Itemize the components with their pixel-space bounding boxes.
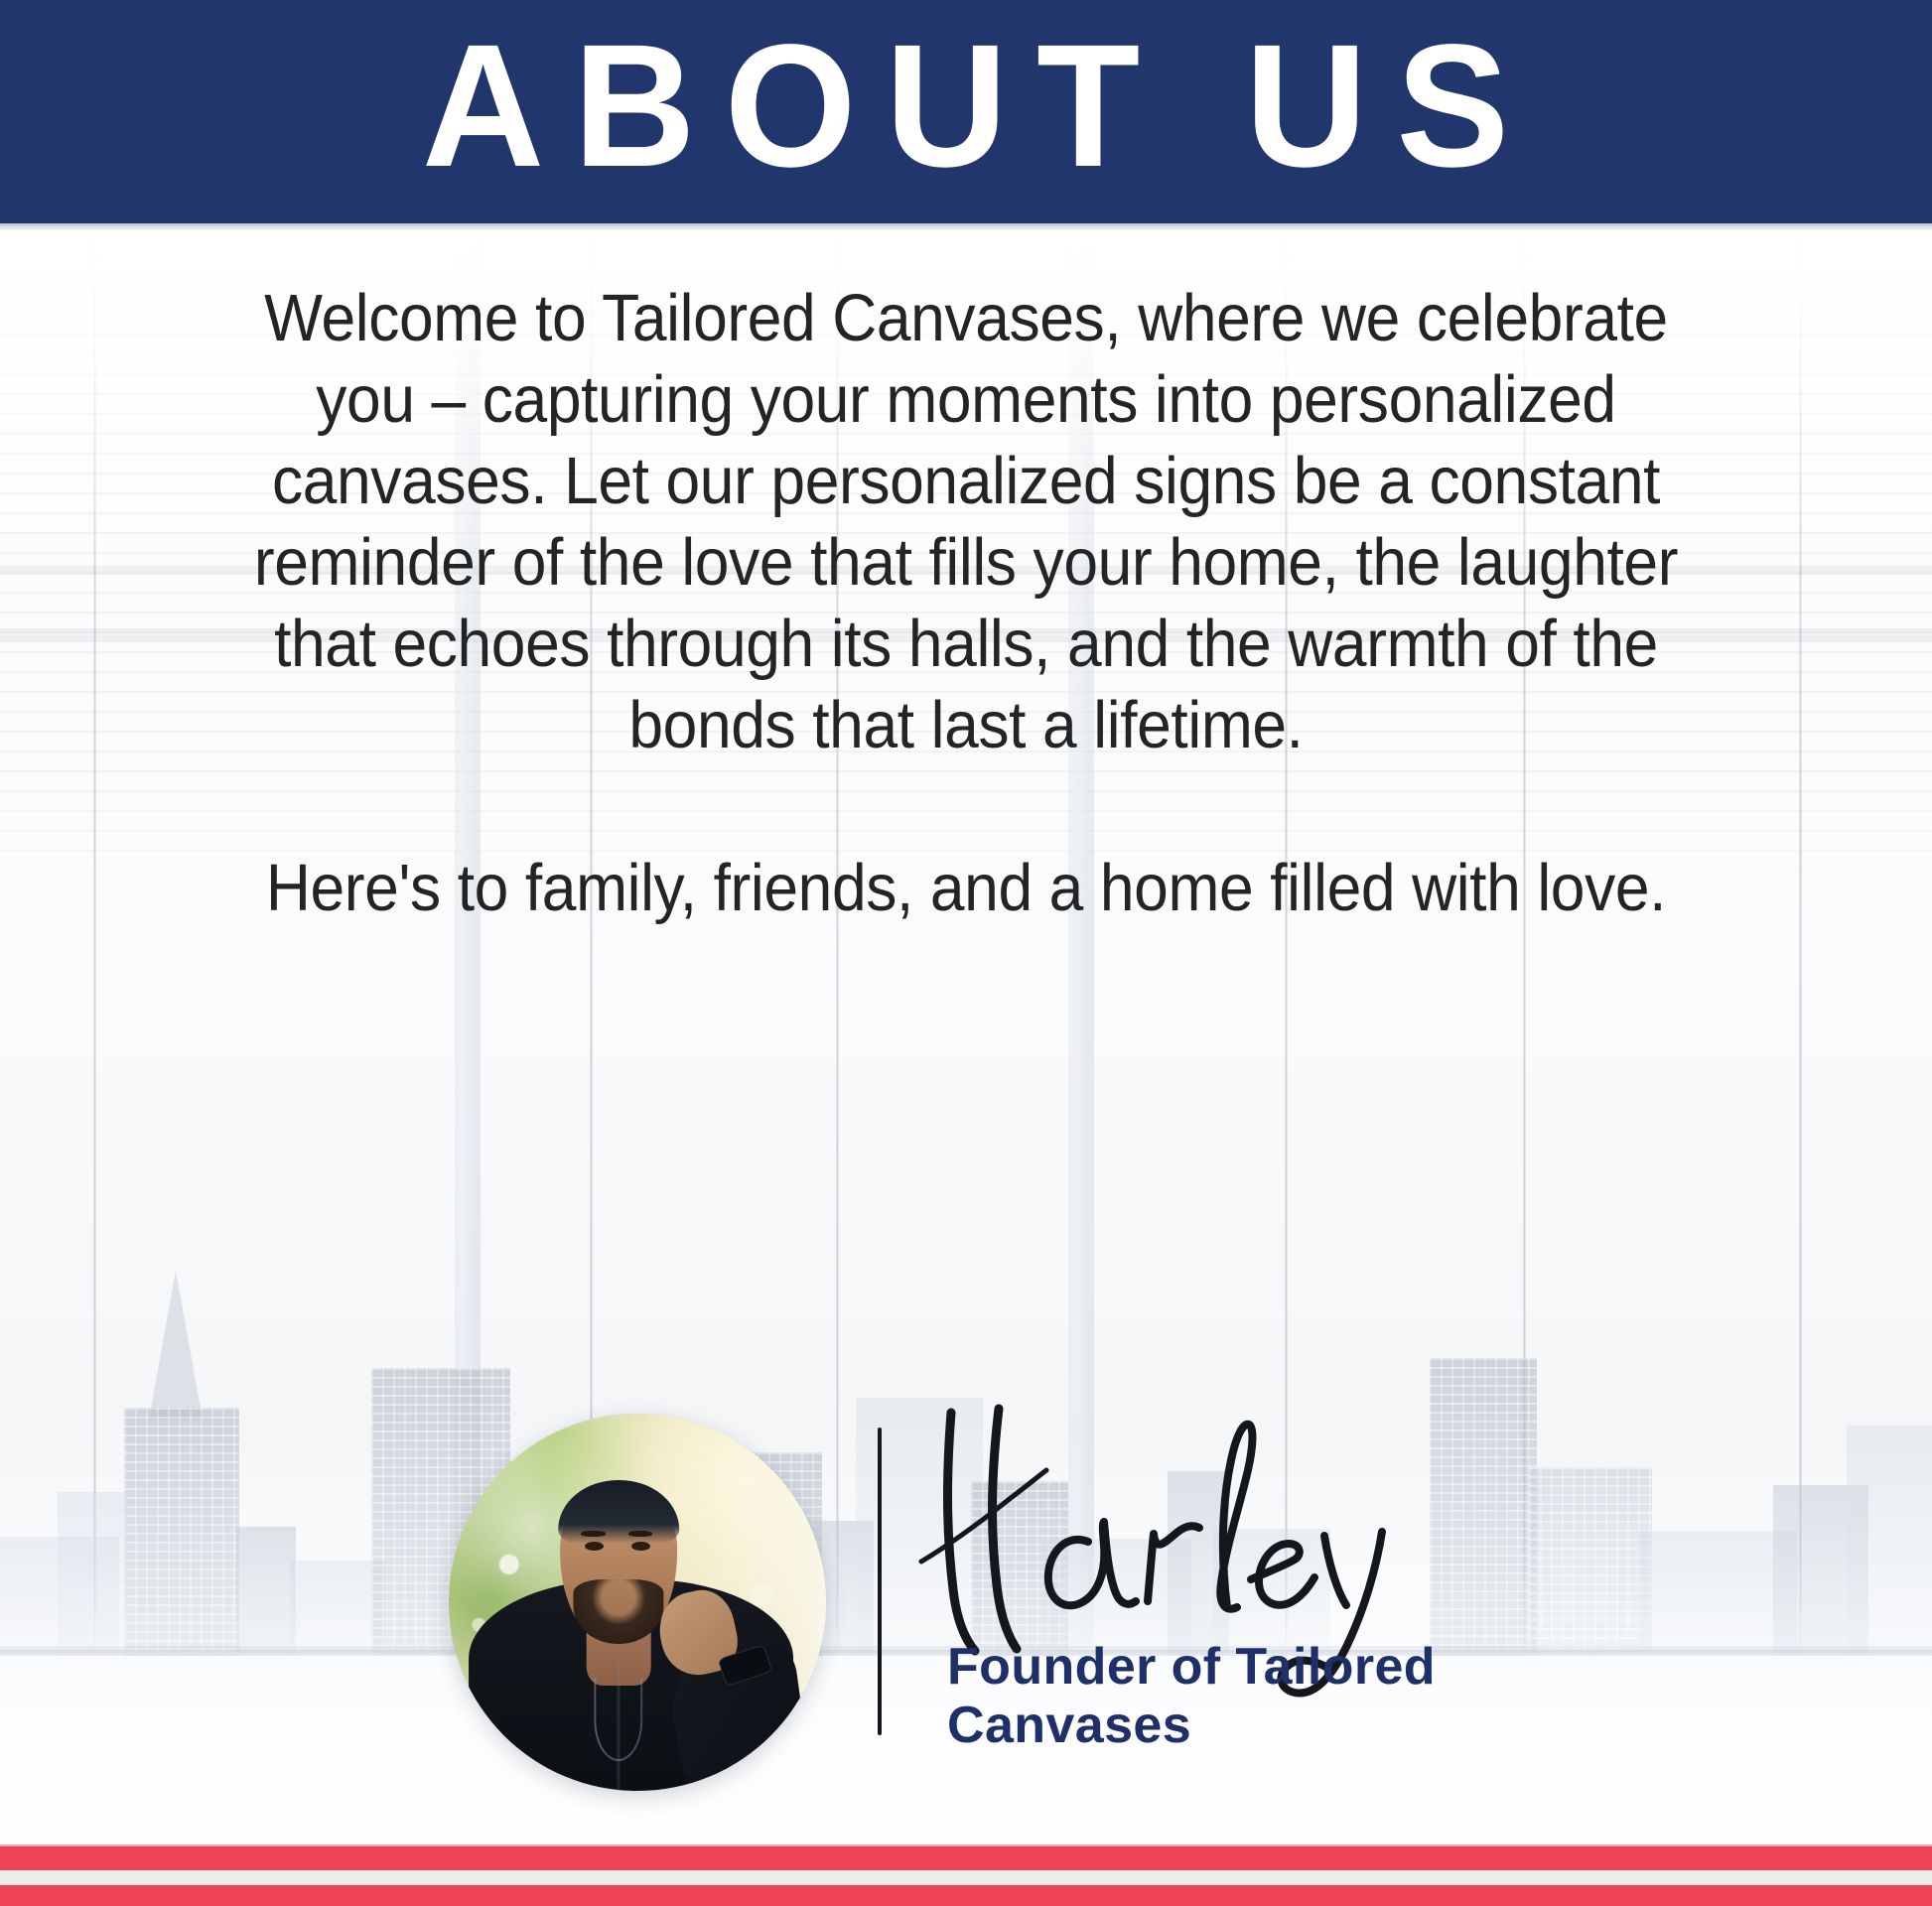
portrait-necklace	[594, 1678, 642, 1761]
signature-divider-line	[878, 1428, 882, 1735]
about-us-page: ABOUT US Welcome to Tailored Canvases, w…	[0, 0, 1932, 1906]
portrait-eyebrow-left	[581, 1531, 606, 1537]
about-us-copy: Welcome to Tailored Canvases, where we c…	[243, 278, 1689, 929]
founder-portrait-photo	[449, 1414, 826, 1791]
about-paragraph-2: Here's to family, friends, and a home fi…	[243, 848, 1689, 929]
header-underline	[0, 223, 1932, 230]
founder-role-line-2: Canvases	[947, 1697, 1583, 1755]
founder-role-text: Founder of Tailored Canvases	[947, 1638, 1583, 1755]
page-title: ABOUT US	[393, 19, 1538, 194]
founder-role-line-1: Founder of Tailored	[947, 1638, 1583, 1697]
about-paragraph-1: Welcome to Tailored Canvases, where we c…	[243, 278, 1689, 766]
paragraph-spacer	[243, 766, 1689, 848]
building	[1529, 1467, 1652, 1656]
building	[124, 1408, 239, 1656]
footer-stripe-red-bottom	[0, 1885, 1932, 1906]
building	[236, 1527, 296, 1656]
building	[58, 1492, 127, 1656]
header-band: ABOUT US	[0, 0, 1932, 223]
building	[1847, 1426, 1932, 1656]
footer-stripe-gap	[0, 1870, 1932, 1885]
portrait-eyebrow-right	[628, 1531, 653, 1537]
transamerica-spire	[149, 1271, 203, 1420]
footer-stripe-red-top	[0, 1846, 1932, 1870]
